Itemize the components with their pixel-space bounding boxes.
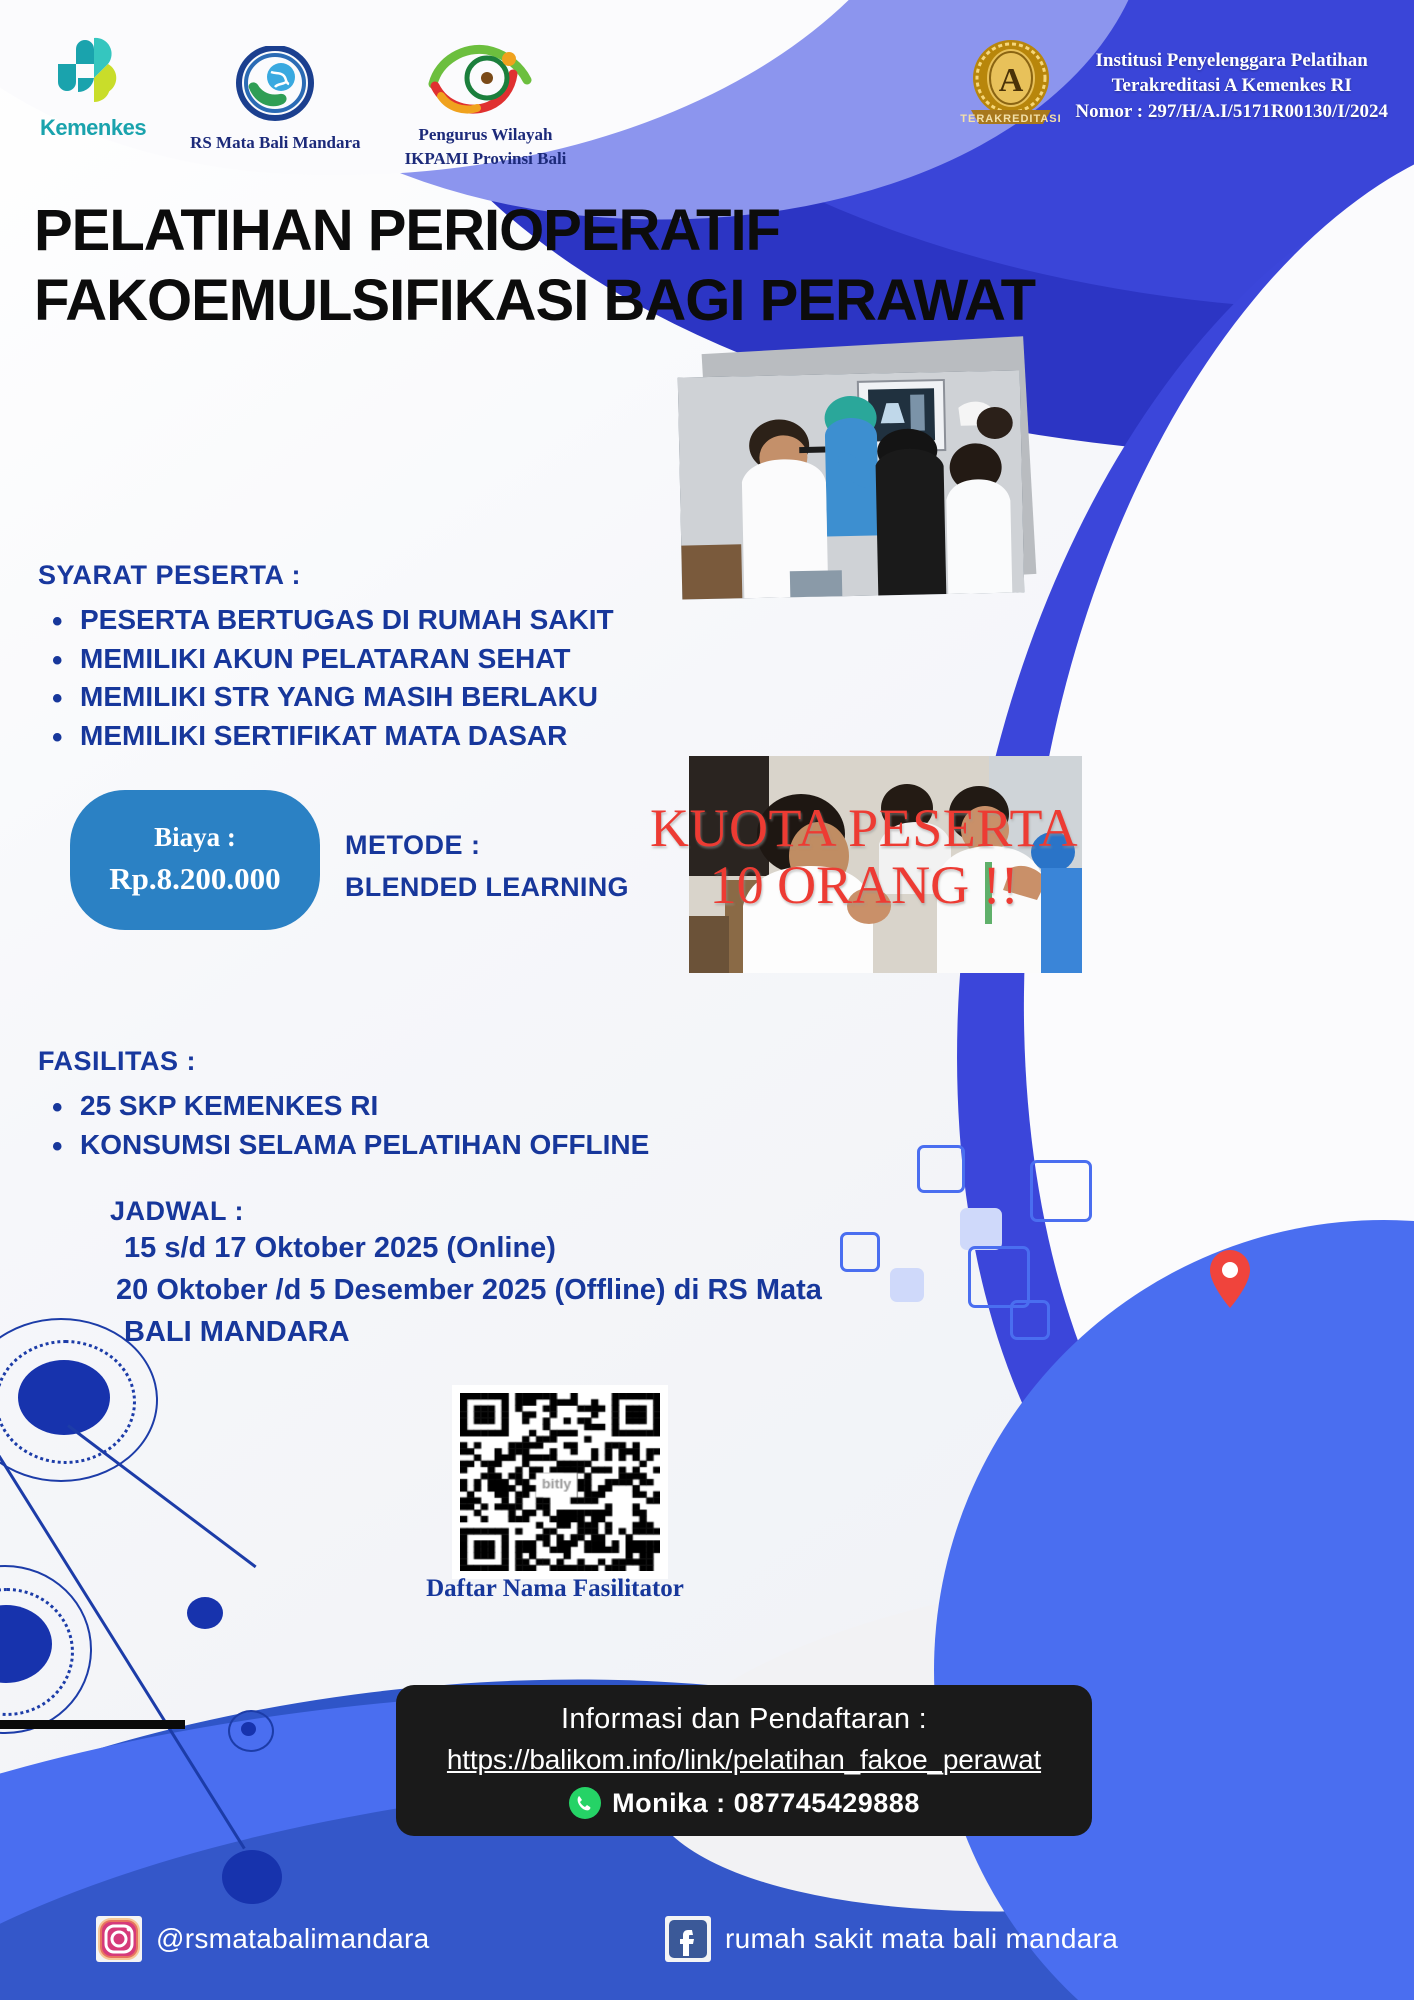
registration-link[interactable]: https://balikom.info/link/pelatihan_fako… xyxy=(410,1744,1078,1776)
logo-ikpami-caption-line1: Pengurus Wilayah xyxy=(405,125,567,145)
quota-callout: KUOTA PESERTA 10 ORANG !! xyxy=(650,800,1078,913)
instagram-icon xyxy=(96,1916,142,1962)
whatsapp-icon xyxy=(568,1786,602,1820)
facilities-item: 25 SKP KEMENKES RI xyxy=(38,1087,649,1126)
facilities-list: 25 SKP KEMENKES RI KONSUMSI SELAMA PELAT… xyxy=(38,1087,649,1164)
method-section: METODE : BLENDED LEARNING xyxy=(345,830,629,903)
requirements-item: MEMILIKI STR YANG MASIH BERLAKU xyxy=(38,678,614,717)
contact-title: Informasi dan Pendaftaran : xyxy=(410,1703,1078,1736)
accreditation-text: Institusi Penyelenggara Pelatihan Terakr… xyxy=(1075,48,1388,125)
decor-square-7 xyxy=(1010,1300,1050,1340)
decor-square-1 xyxy=(917,1145,965,1193)
instagram-handle: @rsmatabalimandara xyxy=(156,1923,430,1955)
requirements-item: PESERTA BERTUGAS DI RUMAH SAKIT xyxy=(38,601,614,640)
logo-rs-mata-caption: RS Mata Bali Mandara xyxy=(190,133,360,153)
facilities-heading: FASILITAS : xyxy=(38,1046,649,1077)
whatsapp-contact[interactable]: Monika : 087745429888 xyxy=(410,1786,1078,1820)
fee-label: Biaya : xyxy=(154,818,236,857)
accreditation-line-3: Nomor : 297/H/A.I/5171R00130/I/2024 xyxy=(1075,99,1388,125)
qr-code-caption: Daftar Nama Fasilitator xyxy=(420,1575,690,1603)
location-pin-icon xyxy=(1205,1248,1255,1315)
quota-line-2: 10 ORANG !! xyxy=(650,857,1078,914)
requirements-item: MEMILIKI SERTIFIKAT MATA DASAR xyxy=(38,717,614,756)
decor-square-6 xyxy=(890,1268,924,1302)
schedule-line-2: 20 Oktober /d 5 Desember 2025 (Offline) … xyxy=(110,1269,822,1311)
decor-dot-tiny xyxy=(241,1722,256,1736)
social-instagram[interactable]: @rsmatabalimandara xyxy=(96,1916,430,1962)
requirements-heading: SYARAT PESERTA : xyxy=(38,560,614,591)
accreditation-line-2: Terakreditasi A Kemenkes RI xyxy=(1075,73,1388,99)
decor-dot-small-2 xyxy=(222,1850,282,1904)
page-title-line-2: FAKOEMULSIFIKASI BAGI PERAWAT xyxy=(34,266,1035,336)
requirements-item: MEMILIKI AKUN PELATARAN SEHAT xyxy=(38,640,614,679)
decor-bar-black xyxy=(0,1720,185,1729)
decor-line-1 xyxy=(67,1424,256,1568)
quota-line-1: KUOTA PESERTA xyxy=(650,800,1078,857)
schedule-heading: JADWAL : xyxy=(110,1196,822,1227)
svg-text:A: A xyxy=(999,62,1024,99)
rs-mata-bali-mandara-logo-icon xyxy=(235,46,315,124)
accreditation-medal-icon: A TERAKREDITASI xyxy=(959,34,1063,138)
accreditation-line-1: Institusi Penyelenggara Pelatihan xyxy=(1075,48,1388,74)
method-label: METODE : xyxy=(345,830,629,861)
photo-training-session-graphic xyxy=(678,370,1025,599)
decor-square-2 xyxy=(1030,1160,1092,1222)
ikpami-logo-icon xyxy=(425,44,545,116)
logo-rs-mata-bali-mandara: RS Mata Bali Mandara xyxy=(190,46,360,153)
requirements-section: SYARAT PESERTA : PESERTA BERTUGAS DI RUM… xyxy=(38,560,614,756)
svg-text:TERAKREDITASI: TERAKREDITASI xyxy=(961,113,1062,125)
qr-code-canvas[interactable] xyxy=(460,1393,660,1571)
header-logo-row: Kemenkes RS Mata Bali Mandara xyxy=(40,34,566,168)
logo-kemenkes-caption: Kemenkes xyxy=(40,115,146,141)
decor-square-5 xyxy=(968,1246,1030,1308)
map-marker-icon xyxy=(1205,1248,1255,1310)
accreditation-block: A TERAKREDITASI Institusi Penyelenggara … xyxy=(959,34,1388,138)
logo-ikpami-caption-line2: IKPAMI Provinsi Bali xyxy=(405,149,567,169)
schedule-line-1: 15 s/d 17 Oktober 2025 (Online) xyxy=(110,1227,822,1269)
decor-dot-small-1 xyxy=(187,1597,223,1629)
logo-kemenkes: Kemenkes xyxy=(40,34,146,141)
schedule-line-3: BALI MANDARA xyxy=(110,1311,822,1353)
contact-box: Informasi dan Pendaftaran : https://bali… xyxy=(396,1685,1092,1836)
decor-square-4 xyxy=(840,1232,880,1272)
qr-code-fasilitator[interactable] xyxy=(452,1385,668,1579)
page-title: PELATIHAN PERIOPERATIF FAKOEMULSIFIKASI … xyxy=(34,196,1035,335)
facilities-item: KONSUMSI SELAMA PELATIHAN OFFLINE xyxy=(38,1126,649,1165)
whatsapp-number: Monika : 087745429888 xyxy=(612,1788,920,1819)
facilities-section: FASILITAS : 25 SKP KEMENKES RI KONSUMSI … xyxy=(38,1046,649,1164)
fee-value: Rp.8.200.000 xyxy=(109,857,280,902)
schedule-section: JADWAL : 15 s/d 17 Oktober 2025 (Online)… xyxy=(110,1196,822,1353)
decor-square-3 xyxy=(960,1208,1002,1250)
page-title-line-1: PELATIHAN PERIOPERATIF xyxy=(34,196,1035,266)
method-value: BLENDED LEARNING xyxy=(345,872,629,903)
fee-badge: Biaya : Rp.8.200.000 xyxy=(70,790,320,930)
kemenkes-logo-icon xyxy=(50,34,136,108)
facebook-handle: rumah sakit mata bali mandara xyxy=(725,1923,1118,1955)
poster-root: Kemenkes RS Mata Bali Mandara xyxy=(0,0,1414,2000)
facebook-icon xyxy=(665,1916,711,1962)
decor-dot-large-1 xyxy=(18,1360,110,1435)
social-facebook[interactable]: rumah sakit mata bali mandara xyxy=(665,1916,1118,1962)
photo-training-session xyxy=(678,370,1025,599)
logo-ikpami: Pengurus Wilayah IKPAMI Provinsi Bali xyxy=(405,44,567,168)
requirements-list: PESERTA BERTUGAS DI RUMAH SAKIT MEMILIKI… xyxy=(38,601,614,756)
